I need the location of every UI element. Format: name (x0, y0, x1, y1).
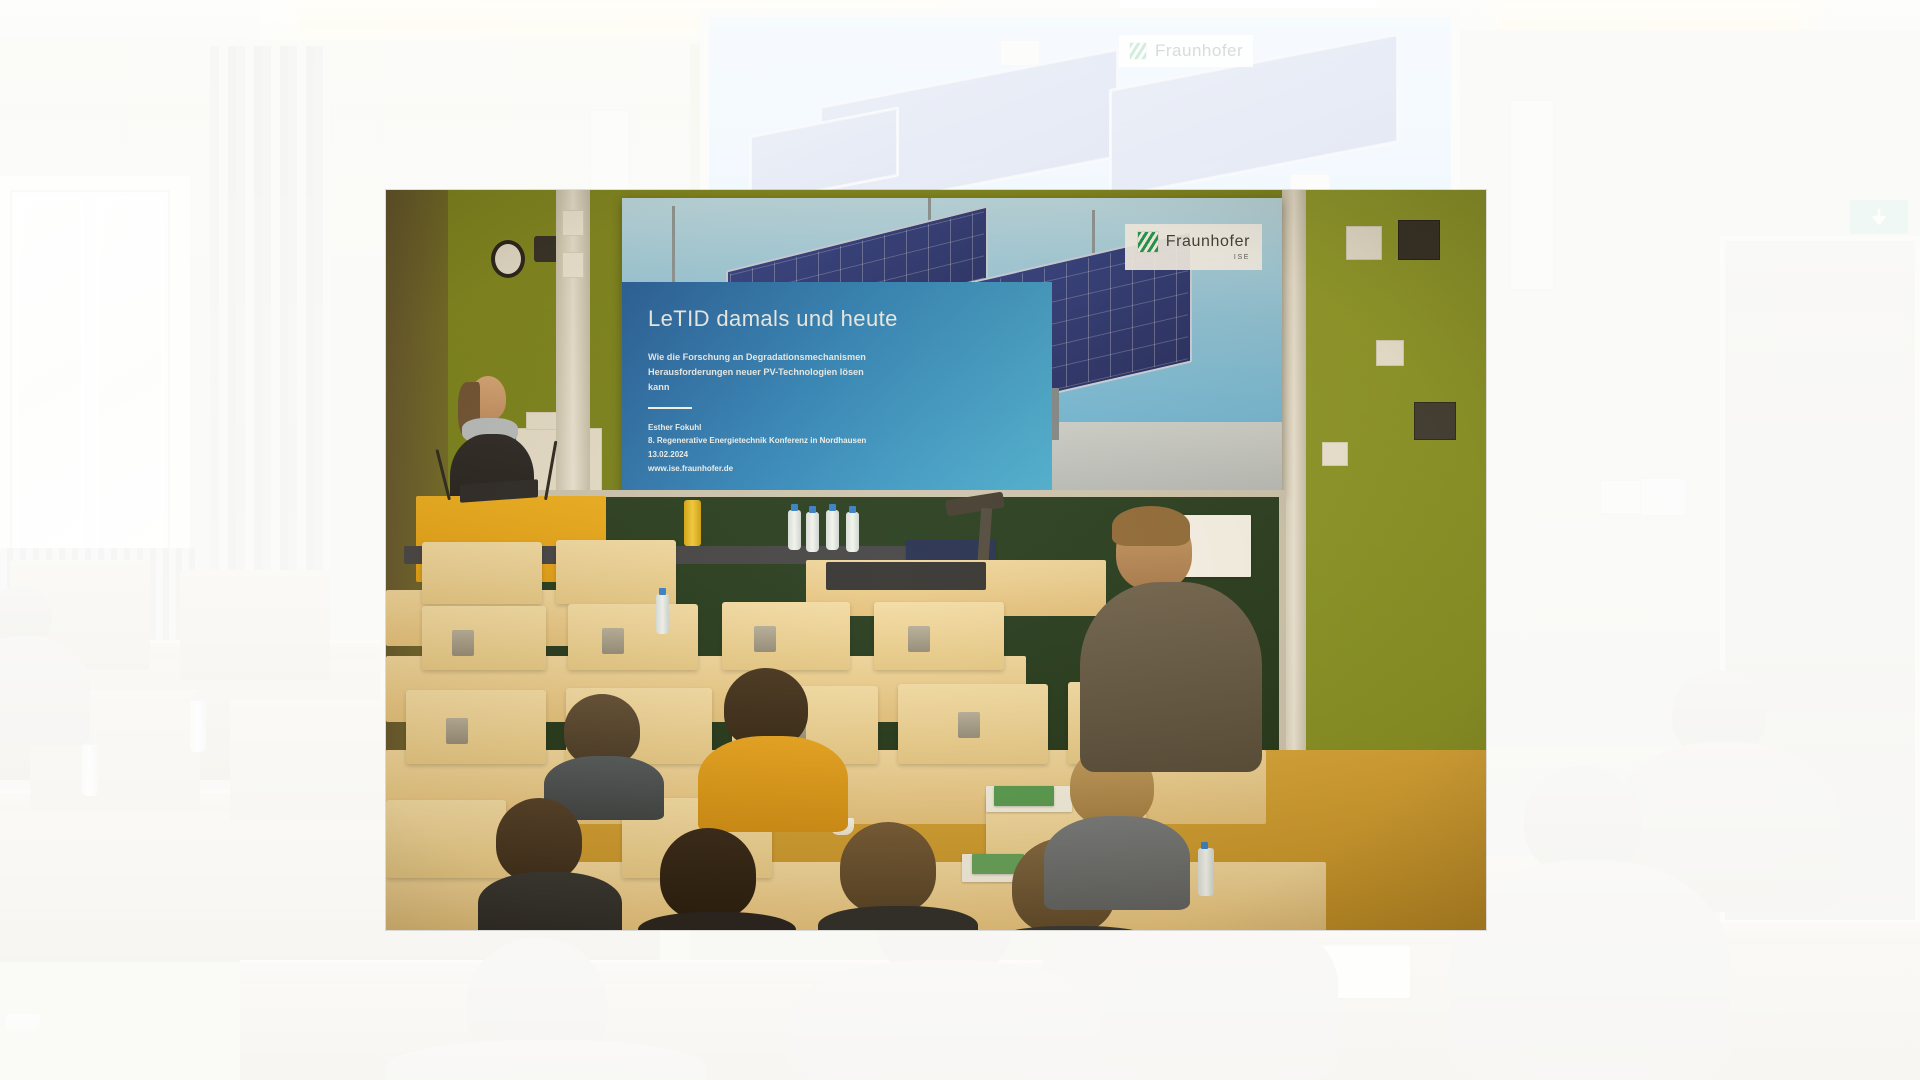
desk-clip (602, 628, 624, 654)
fraunhofer-logo-name: Fraunhofer (1166, 233, 1250, 251)
bench-back (230, 700, 400, 820)
bench-back (180, 570, 330, 680)
bench-back (406, 690, 546, 764)
green-folder (994, 786, 1054, 806)
pillar-sign (562, 252, 584, 278)
fraunhofer-logo: Fraunhofer ISE (1125, 224, 1262, 270)
yellow-thermos-flask (684, 500, 701, 546)
power-outlet[interactable] (1322, 442, 1348, 466)
pillar-sign (562, 210, 584, 236)
light-switch[interactable] (1600, 480, 1642, 514)
audience-body (790, 960, 1100, 1080)
wall-panel-dark (1398, 220, 1440, 260)
curtain (210, 46, 330, 586)
slide-subtitle-line-2: Herausforderungen neuer PV-Technologien … (648, 365, 978, 380)
water-bottle (656, 594, 669, 634)
rear-window: Fraunhofer (700, 8, 1460, 208)
inner-highlight-photo: LeTID damals und heute Wie die Forschung… (386, 190, 1486, 930)
audience-body (818, 906, 978, 930)
pv-support (1052, 388, 1059, 440)
slide-meta: Esther Fokuhl 8. Regenerative Energietec… (648, 421, 1026, 476)
wall-strip (1510, 100, 1554, 290)
water-bottle (806, 512, 819, 552)
slide-subtitle: Wie die Forschung an Degradationsmechani… (648, 350, 978, 395)
slide-divider (648, 407, 692, 409)
water-bottle (1198, 848, 1214, 896)
emergency-exit-sign (1850, 200, 1908, 234)
audience-body (1450, 860, 1730, 1080)
light-switch[interactable] (1376, 340, 1404, 366)
slide-title: LeTID damals und heute (648, 306, 1026, 332)
outer-logo-name: Fraunhofer (1155, 41, 1243, 61)
bench-back (874, 602, 1004, 670)
audience-member (644, 828, 786, 930)
bench-back (422, 542, 542, 604)
window (0, 180, 180, 590)
audience-hair (1112, 506, 1190, 546)
water-bottle (788, 510, 801, 550)
ceiling-vent (1000, 40, 1040, 66)
desk-clip (908, 626, 930, 652)
audience-body (698, 736, 848, 832)
water-bottle (846, 512, 859, 552)
audience-body (1080, 582, 1262, 772)
desk-clip (754, 626, 776, 652)
desk-clip (452, 630, 474, 656)
fraunhofer-institute-label: ISE (1234, 254, 1250, 261)
audience-head (660, 828, 756, 920)
coffee-cup (6, 1014, 40, 1036)
ceiling-light (1500, 4, 1800, 30)
slide-event: 8. Regenerative Energietechnik Konferenz… (648, 434, 1026, 448)
water-bottle (190, 700, 206, 752)
bench-back (722, 602, 850, 670)
wall-device (1346, 226, 1382, 260)
slide-subtitle-line-3: kann (648, 380, 978, 395)
audience-head (840, 822, 936, 914)
wall-panel-dark (1414, 402, 1456, 440)
projection-screen: LeTID damals und heute Wie die Forschung… (622, 198, 1282, 496)
outer-fraunhofer-logo: Fraunhofer (1119, 35, 1253, 67)
desk-clip (958, 712, 980, 738)
audience-member (544, 694, 664, 814)
audience-body (990, 926, 1158, 930)
audience-member (482, 798, 612, 930)
audience-body (1044, 816, 1190, 910)
wall-clock (491, 240, 525, 278)
audience-body (638, 912, 796, 930)
water-bottle (826, 510, 839, 550)
bench-back (568, 604, 698, 670)
slide-subtitle-line-1: Wie die Forschung an Degradationsmechani… (648, 350, 978, 365)
light-switch[interactable] (1640, 478, 1686, 516)
audience-member (826, 822, 966, 930)
bench-back (422, 606, 546, 670)
slide-text-panel: LeTID damals und heute Wie die Forschung… (622, 282, 1052, 496)
screenshot-stage: Fraunhofer (0, 0, 1920, 1080)
audience-head (496, 798, 582, 882)
water-bottle (82, 744, 98, 796)
exit-arrow-icon (1868, 206, 1890, 228)
audience-member (1086, 510, 1256, 760)
fraunhofer-logo-mark (1137, 231, 1159, 253)
slide-author: Esther Fokuhl (648, 421, 1026, 435)
fraunhofer-logo-mark (1129, 42, 1147, 60)
audience-member (702, 668, 838, 818)
fraunhofer-logo-row: Fraunhofer (1137, 231, 1250, 253)
slide-date: 13.02.2024 (648, 448, 1026, 462)
desk-clip (446, 718, 468, 744)
projector-glass (826, 562, 986, 590)
audience-body (478, 872, 622, 930)
slide-website: www.ise.fraunhofer.de (648, 462, 1026, 476)
